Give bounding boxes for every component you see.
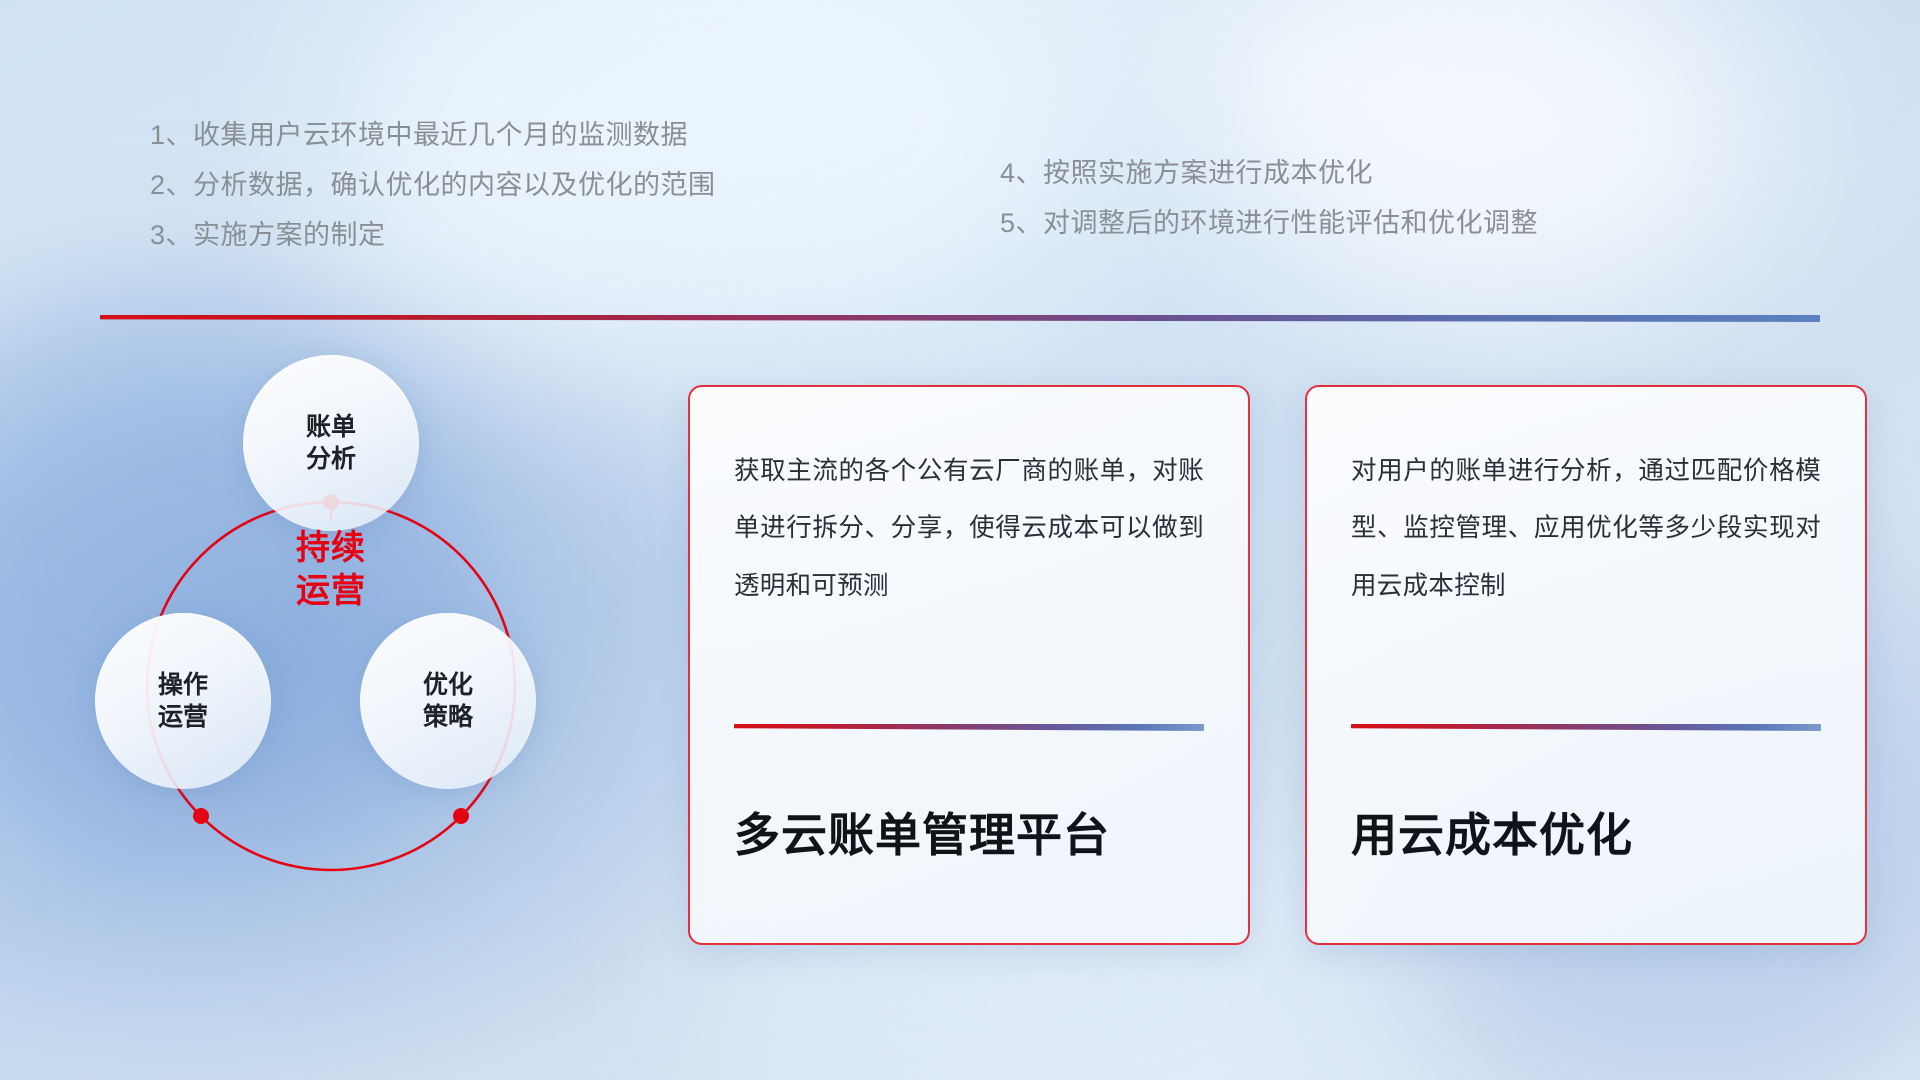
bubble-label-line2: 运营: [158, 701, 208, 733]
step-item: 1、收集用户云环境中最近几个月的监测数据: [150, 122, 716, 149]
bubble-label-line1: 操作: [158, 669, 208, 701]
card-body-text: 对用户的账单进行分析，通过匹配价格模型、监控管理、应用优化等多少段实现对用云成本…: [1351, 443, 1821, 615]
bubble-label-line2: 分析: [306, 443, 356, 475]
section-divider-rule: [100, 315, 1820, 322]
ring-node-left: [193, 808, 209, 824]
venn-diagram: 账单 分析 操作 运营 优化 策略 持续 运营: [95, 355, 635, 955]
steps-list-left: 1、收集用户云环境中最近几个月的监测数据 2、分析数据，确认优化的内容以及优化的…: [150, 122, 716, 249]
step-item: 4、按照实施方案进行成本优化: [1000, 160, 1538, 187]
center-label-line1: 持续: [238, 527, 424, 570]
card-title: 多云账单管理平台: [734, 799, 1204, 865]
slide-root: 1、收集用户云环境中最近几个月的监测数据 2、分析数据，确认优化的内容以及优化的…: [0, 0, 1920, 1080]
feature-card-cost-optimization[interactable]: 对用户的账单进行分析，通过匹配价格模型、监控管理、应用优化等多少段实现对用云成本…: [1305, 385, 1867, 945]
card-divider-rule: [1351, 724, 1821, 731]
ring-node-right: [453, 808, 469, 824]
venn-center-label: 持续 运营: [238, 527, 424, 613]
step-item: 3、实施方案的制定: [150, 222, 716, 249]
venn-bubble-operations[interactable]: 操作 运营: [95, 613, 271, 789]
step-item: 2、分析数据，确认优化的内容以及优化的范围: [150, 172, 716, 199]
venn-bubble-optimization-strategy[interactable]: 优化 策略: [360, 613, 536, 789]
card-body-text: 获取主流的各个公有云厂商的账单，对账单进行拆分、分享，使得云成本可以做到透明和可…: [734, 443, 1204, 615]
step-item: 5、对调整后的环境进行性能评估和优化调整: [1000, 210, 1538, 237]
bubble-label-line1: 优化: [423, 669, 473, 701]
steps-list-right: 4、按照实施方案进行成本优化 5、对调整后的环境进行性能评估和优化调整: [1000, 160, 1538, 237]
venn-bubble-billing-analysis[interactable]: 账单 分析: [243, 355, 419, 531]
feature-card-multicloud-billing[interactable]: 获取主流的各个公有云厂商的账单，对账单进行拆分、分享，使得云成本可以做到透明和可…: [688, 385, 1250, 945]
card-title: 用云成本优化: [1351, 799, 1821, 865]
bubble-label-line2: 策略: [423, 701, 473, 733]
card-divider-rule: [734, 724, 1204, 731]
center-label-line2: 运营: [238, 570, 424, 613]
bubble-label-line1: 账单: [306, 411, 356, 443]
